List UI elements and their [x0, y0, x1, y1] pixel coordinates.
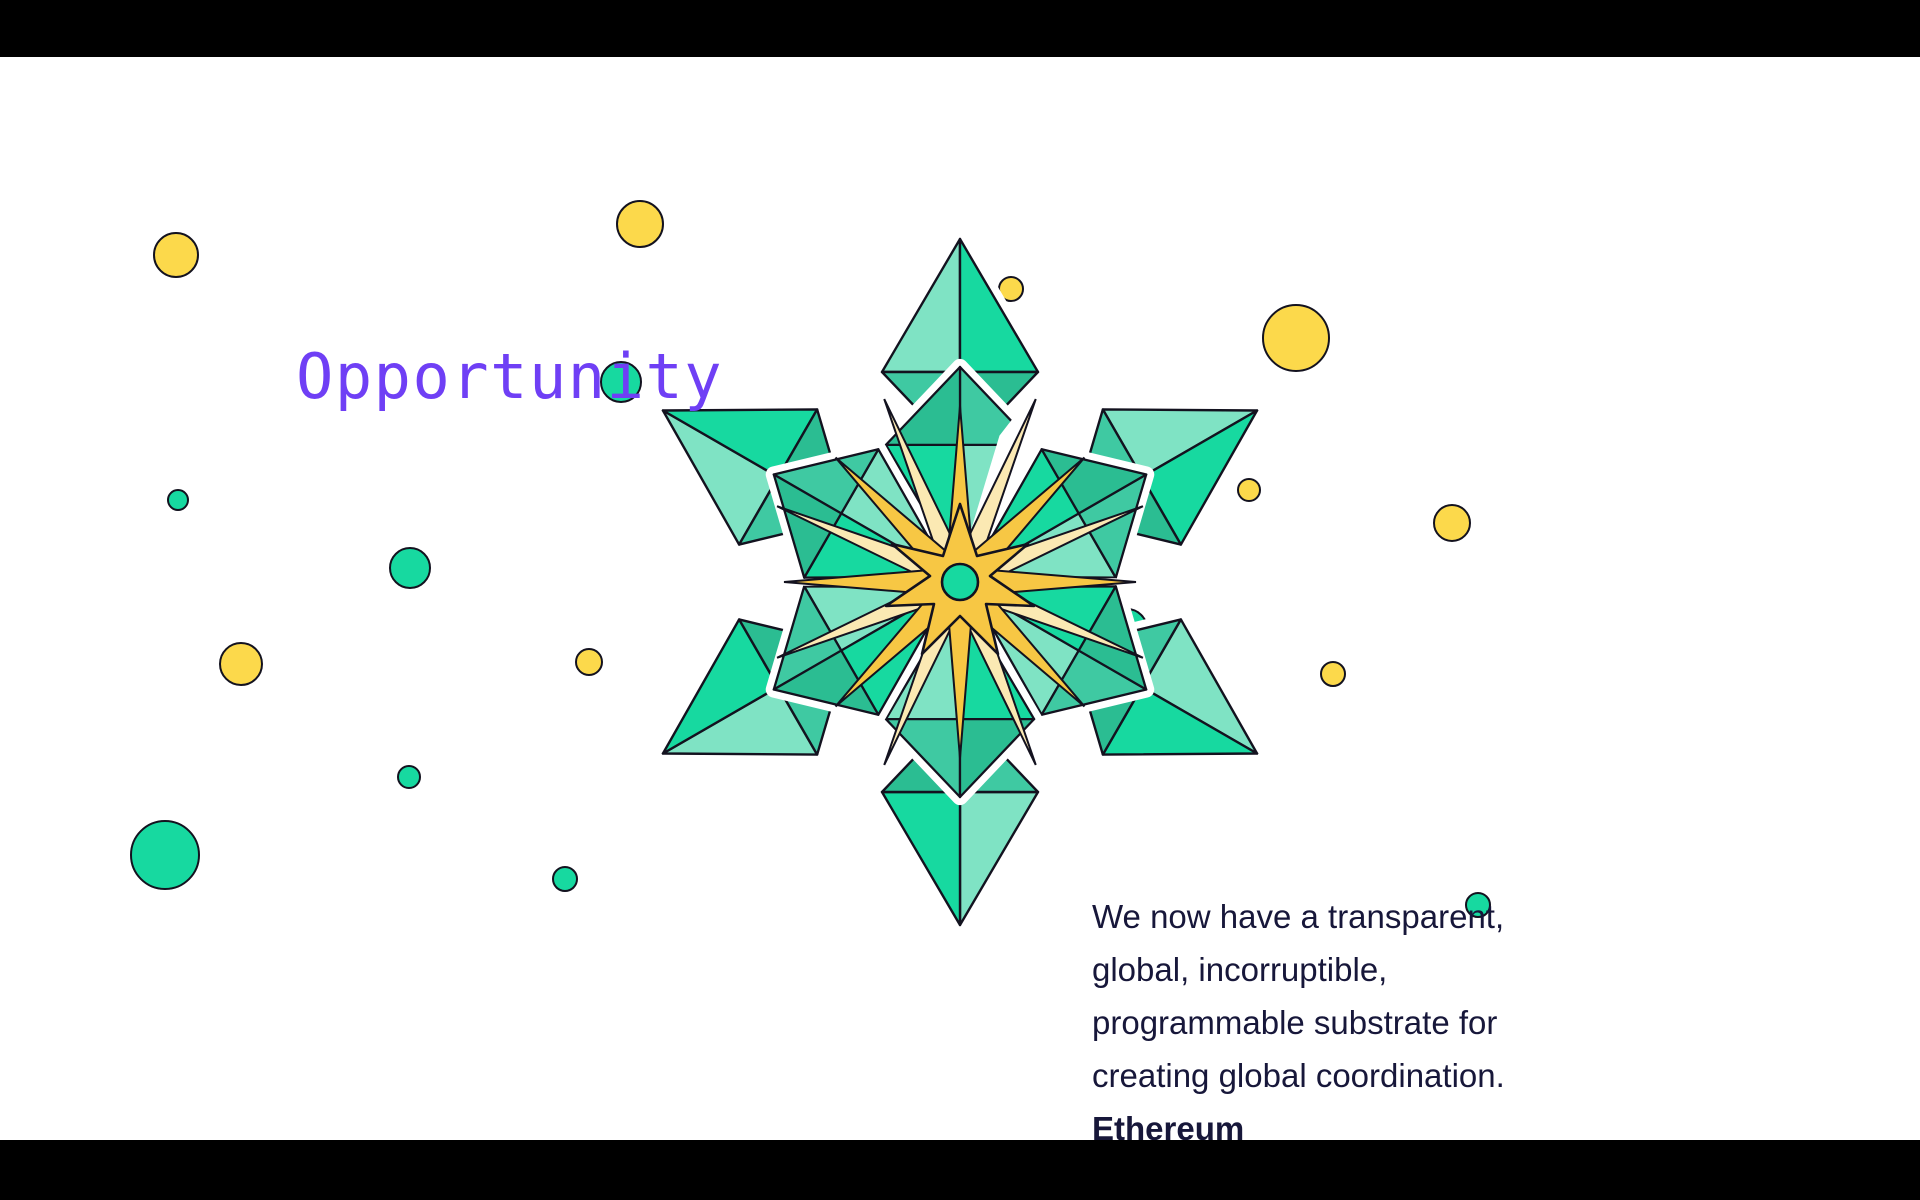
dot-teal-2	[389, 547, 431, 589]
dot-yellow-1	[153, 232, 199, 278]
dot-teal-4	[397, 765, 421, 789]
letterbox-top	[0, 0, 1920, 57]
dot-teal-1	[167, 489, 189, 511]
slide-root: Opportunity We now have a transparent, g…	[0, 0, 1920, 1200]
quote-attribution: Ethereum	[1092, 1102, 1612, 1140]
dot-yellow-7	[219, 642, 263, 686]
quote-line: programmable substrate for	[1092, 996, 1612, 1049]
quote-block: We now have a transparent, global, incor…	[1092, 890, 1612, 1140]
page-title: Opportunity	[296, 340, 723, 413]
quote-line: creating global coordination.	[1092, 1049, 1612, 1102]
dot-teal-6	[552, 866, 578, 892]
slide-canvas: Opportunity We now have a transparent, g…	[0, 57, 1920, 1140]
quote-line: global, incorruptible,	[1092, 943, 1612, 996]
star-center-dot	[942, 564, 978, 600]
letterbox-bottom	[0, 1140, 1920, 1200]
dot-yellow-6	[1433, 504, 1471, 542]
dot-teal-5	[130, 820, 200, 890]
quote-line: We now have a transparent,	[1092, 890, 1612, 943]
